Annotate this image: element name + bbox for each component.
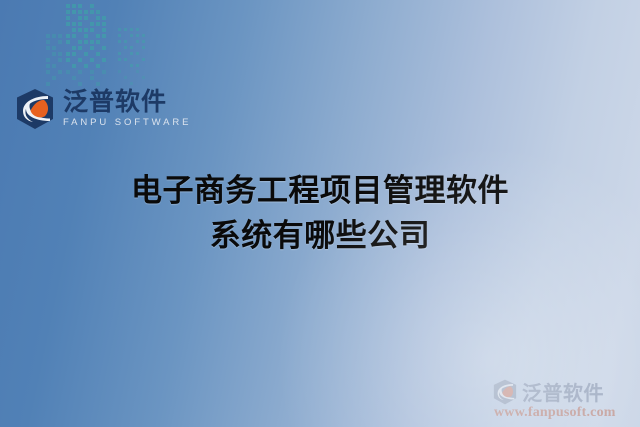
watermark: 泛普软件 www.fanpusoft.com bbox=[492, 377, 632, 421]
brand-logo: 泛普软件 FANPU SOFTWARE bbox=[14, 88, 191, 130]
fanpu-logo-icon bbox=[492, 379, 518, 405]
watermark-url: www.fanpusoft.com bbox=[492, 405, 632, 421]
watermark-name-cn: 泛普软件 bbox=[522, 377, 604, 406]
promo-banner: 泛普软件 FANPU SOFTWARE 电子商务工程项目管理软件 系统有哪些公司… bbox=[0, 0, 640, 427]
watermark-logo: 泛普软件 bbox=[492, 377, 632, 406]
brand-name-cn: 泛普软件 bbox=[63, 90, 191, 115]
page-title: 电子商务工程项目管理软件 系统有哪些公司 bbox=[0, 168, 640, 259]
page-title-line-1: 电子商务工程项目管理软件 bbox=[0, 168, 640, 213]
fanpu-logo-icon bbox=[14, 88, 56, 130]
brand-name-en: FANPU SOFTWARE bbox=[63, 118, 191, 128]
page-title-line-2: 系统有哪些公司 bbox=[0, 213, 640, 258]
pixel-skyline-decoration-icon bbox=[44, 0, 194, 90]
